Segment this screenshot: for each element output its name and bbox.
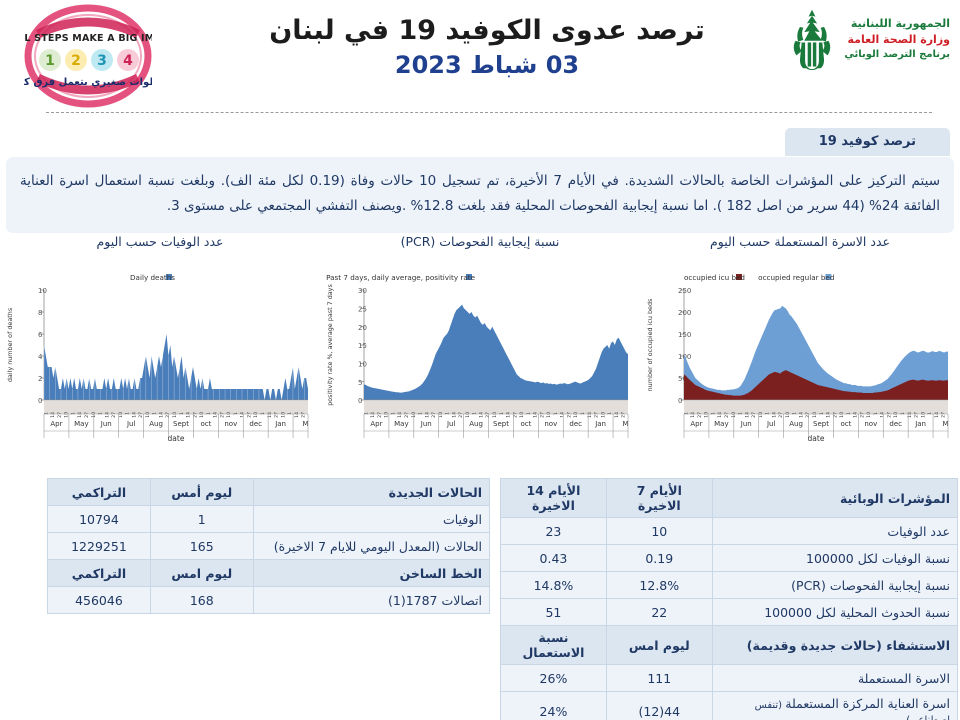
svg-text:27: 27 (697, 412, 703, 418)
svg-text:20: 20 (358, 324, 367, 332)
svg-text:10: 10 (573, 412, 579, 418)
indicators-row-value-0: 22 (606, 599, 712, 626)
svg-text:1: 1 (553, 412, 559, 415)
x-tick-label: Aug (149, 420, 163, 428)
x-tick-label: Jun (100, 420, 112, 428)
indicators-row-value-0: 10 (606, 518, 712, 545)
indicators-row-label-sub: (تنفس اصطناعي) (755, 700, 950, 720)
svg-text:27: 27 (859, 412, 865, 418)
indicators-row-value-1: 14.8% (501, 572, 607, 599)
svg-text:10: 10 (145, 412, 151, 418)
chart-daily-deaths: 0246810114271011427101142710114271011427… (0, 262, 320, 452)
svg-text:14: 14 (506, 412, 512, 418)
svg-text:14: 14 (880, 412, 886, 418)
cases-row-value-0: 1 (150, 506, 253, 533)
x-tick-label: dec (249, 420, 262, 428)
svg-text:1: 1 (927, 412, 933, 415)
x-tick-label: nov (544, 420, 557, 428)
x-tick-label: May (74, 420, 88, 428)
svg-text:10: 10 (465, 412, 471, 418)
svg-text:27: 27 (539, 412, 545, 418)
x-tick-label: Aug (789, 420, 803, 428)
cases-row-value-0: 165 (150, 533, 253, 560)
x-tick-label: Sept (173, 420, 189, 428)
cedar-tree-hand-icon (786, 8, 838, 70)
svg-text:30: 30 (358, 287, 367, 295)
x-tick-label: Apr (370, 420, 382, 428)
svg-text:1: 1 (445, 412, 451, 415)
charts-row: 0246810114271011427101142710114271011427… (0, 262, 960, 452)
x-tick-label: Jan (274, 420, 286, 428)
svg-text:1: 1 (792, 412, 798, 415)
svg-text:1: 1 (580, 412, 586, 415)
ministry-text: الجمهورية اللبنانية وزارة الصحة العامة ب… (844, 16, 950, 62)
svg-text:1: 1 (287, 412, 293, 415)
cases-header-cell-1: ليوم امس (150, 560, 253, 587)
page-date: 03 شباط 2023 (252, 50, 722, 81)
svg-text:0: 0 (38, 397, 42, 405)
ministry-line-1: الجمهورية اللبنانية (844, 16, 950, 32)
svg-text:2: 2 (71, 53, 81, 69)
x-tick-label: dec (889, 420, 902, 428)
svg-text:10: 10 (358, 361, 367, 369)
svg-text:occupied icu bed: occupied icu bed (684, 273, 745, 282)
svg-text:14: 14 (690, 412, 696, 418)
tables-row: المؤشرات الوبائيةالأيام 7 الاخيرةالأيام … (0, 476, 960, 716)
table-row: الحالات (المعدل اليومي للايام 7 الاخيرة)… (48, 533, 490, 560)
page-title: ترصد عدوى الكوفيد 19 في لبنان (252, 14, 722, 48)
indicators-row-label: عدد الوفيات (712, 518, 957, 545)
svg-text:1: 1 (233, 412, 239, 415)
svg-text:10: 10 (280, 412, 286, 418)
svg-text:14: 14 (717, 412, 723, 418)
table-row: نسبة إيجابية الفحوصات (PCR)12.8%14.8% (501, 572, 958, 599)
indicators-header-cell-0: الاستشفاء (حالات جديدة وقديمة) (712, 626, 957, 665)
cases-header-cell-0: الخط الساخن (253, 560, 489, 587)
svg-text:10: 10 (600, 412, 606, 418)
svg-text:1: 1 (206, 412, 212, 415)
svg-text:0: 0 (678, 397, 682, 405)
svg-text:1: 1 (526, 412, 532, 415)
cases-row-value-1: 1229251 (48, 533, 151, 560)
svg-text:14: 14 (798, 412, 804, 418)
chart-svg-0: 0246810114271011427101142710114271011427… (0, 262, 320, 452)
cases-row-value-1: 456046 (48, 587, 151, 614)
svg-text:27: 27 (246, 412, 252, 418)
indicators-header-cell-0: المؤشرات الوبائية (712, 479, 957, 518)
cases-header-row: الحالات الجديدةليوم أمسالتراكمي (48, 479, 490, 506)
x-tick-label: oct (200, 420, 211, 428)
x-tick-label: Jul (446, 420, 456, 428)
svg-text:14: 14 (370, 412, 376, 418)
cases-row-label: اتصالات 1787(1) (253, 587, 489, 614)
indicators-row-label: نسبة الحدوث المحلية لكل 100000 (712, 599, 957, 626)
svg-text:27: 27 (458, 412, 464, 418)
x-tick-label: Apr (690, 420, 702, 428)
x-tick-label: Jan (594, 420, 606, 428)
svg-text:10: 10 (785, 412, 791, 418)
svg-text:27: 27 (84, 412, 90, 418)
chart-svg-1: 0510152025301142710114271011427101142710… (320, 262, 640, 452)
svg-text:5: 5 (358, 379, 362, 387)
ministry-line-2: وزارة الصحة العامة (844, 32, 950, 48)
cases-header-row: الخط الساخنليوم امسالتراكمي (48, 560, 490, 587)
svg-text:14: 14 (131, 412, 137, 418)
chart-legend: occupied icu bedoccupied regular bed (684, 273, 834, 282)
cases-header-cell-2: التراكمي (48, 479, 151, 506)
svg-text:27: 27 (431, 412, 437, 418)
svg-text:10: 10 (866, 412, 872, 418)
x-tick-label: oct (520, 420, 531, 428)
svg-text:14: 14 (907, 412, 913, 418)
x-tick-label: dec (569, 420, 582, 428)
svg-text:200: 200 (678, 309, 691, 317)
svg-text:14: 14 (424, 412, 430, 418)
svg-text:1: 1 (900, 412, 906, 415)
indicators-header-row: الاستشفاء (حالات جديدة وقديمة)ليوم امسنس… (501, 626, 958, 665)
campaign-stamp-icon: SMALL STEPS MAKE A BIG IMPACT 1 2 3 4 خط… (24, 4, 152, 108)
svg-text:2: 2 (38, 375, 42, 383)
table-row: اتصالات 1787(1)168456046 (48, 587, 490, 614)
table-row: عدد الوفيات1023 (501, 518, 958, 545)
cases-row-label: الحالات (المعدل اليومي للايام 7 الاخيرة) (253, 533, 489, 560)
svg-text:14: 14 (186, 412, 192, 418)
chart-title-deaths: عدد الوفيات حسب اليوم (0, 234, 320, 249)
svg-text:1: 1 (765, 412, 771, 415)
svg-text:10: 10 (839, 412, 845, 418)
svg-text:14: 14 (934, 412, 940, 418)
page-header: الجمهورية اللبنانية وزارة الصحة العامة ب… (0, 0, 960, 112)
svg-text:1: 1 (499, 412, 505, 415)
indicators-row-value-0: 44(12) (606, 692, 712, 720)
indicators-row-value-1: 0.43 (501, 545, 607, 572)
indicators-header-cell-1: ليوم امس (606, 626, 712, 665)
svg-text:10: 10 (38, 287, 47, 295)
x-tick-label: Jun (740, 420, 752, 428)
y-axis-label: daily number of deaths (6, 307, 14, 382)
table-row: الوفيات110794 (48, 506, 490, 533)
indicators-header-cell-2: الأيام 14 الاخيرة (501, 479, 607, 518)
svg-text:1: 1 (607, 412, 613, 415)
x-tick-label: May (394, 420, 408, 428)
svg-text:10: 10 (519, 412, 525, 418)
y-axis-label: positivity rate %, average past 7 days (326, 284, 334, 406)
svg-text:14: 14 (213, 412, 219, 418)
ministry-line-3: برنامج الترصد الوبائي (844, 48, 950, 63)
indicators-row-label: اسرة العناية المركزة المستعملة (تنفس اصط… (712, 692, 957, 720)
svg-text:14: 14 (587, 412, 593, 418)
svg-text:14: 14 (478, 412, 484, 418)
svg-text:Past 7 days, daily average, po: Past 7 days, daily average, positivity r… (326, 273, 475, 282)
svg-text:1: 1 (98, 412, 104, 415)
svg-text:14: 14 (560, 412, 566, 418)
svg-text:1: 1 (472, 412, 478, 415)
svg-text:14: 14 (771, 412, 777, 418)
table-row: الاسرة المستعملة11126% (501, 665, 958, 692)
x-tick-label: M (302, 420, 308, 428)
svg-text:10: 10 (199, 412, 205, 418)
svg-text:14: 14 (744, 412, 750, 418)
svg-text:10: 10 (492, 412, 498, 418)
x-tick-label: Jun (420, 420, 432, 428)
x-tick-label: Sept (493, 420, 509, 428)
x-tick-label: oct (840, 420, 851, 428)
cases-header-cell-0: الحالات الجديدة (253, 479, 489, 506)
x-tick-label: Aug (469, 420, 483, 428)
svg-text:150: 150 (678, 331, 691, 339)
svg-text:10: 10 (253, 412, 259, 418)
svg-text:6: 6 (38, 331, 43, 339)
chart-title-beds: عدد الاسرة المستعملة حسب اليوم (640, 234, 960, 249)
svg-text:14: 14 (267, 412, 273, 418)
series-area-positivity-rate (364, 305, 628, 400)
svg-text:14: 14 (853, 412, 859, 418)
x-tick-label: Jul (126, 420, 136, 428)
svg-text:4: 4 (123, 53, 133, 69)
svg-text:1: 1 (125, 412, 131, 415)
x-tick-label: M (942, 420, 948, 428)
svg-text:27: 27 (301, 412, 307, 418)
cases-row-label: الوفيات (253, 506, 489, 533)
chart-pcr-positivity: 0510152025301142710114271011427101142710… (320, 262, 640, 452)
indicators-row-value-1: 51 (501, 599, 607, 626)
svg-text:14: 14 (397, 412, 403, 418)
chart-legend: Past 7 days, daily average, positivity r… (326, 273, 475, 282)
indicators-row-value-0: 12.8% (606, 572, 712, 599)
indicators-header-cell-2: نسبة الاستعمال (501, 626, 607, 665)
svg-text:27: 27 (778, 412, 784, 418)
svg-text:27: 27 (111, 412, 117, 418)
svg-text:1: 1 (873, 412, 879, 415)
x-tick-label: Jul (766, 420, 776, 428)
new-cases-hotline-table: الحالات الجديدةليوم أمسالتراكميالوفيات11… (47, 478, 490, 614)
svg-text:27: 27 (751, 412, 757, 418)
indicators-row-value-1: 24% (501, 692, 607, 720)
svg-text:14: 14 (294, 412, 300, 418)
indicators-row-value-0: 111 (606, 665, 712, 692)
svg-text:1: 1 (819, 412, 825, 415)
svg-text:1: 1 (418, 412, 424, 415)
x-tick-label: May (714, 420, 728, 428)
x-tick-label: nov (224, 420, 237, 428)
cases-row-value-1: 10794 (48, 506, 151, 533)
svg-text:27: 27 (274, 412, 280, 418)
svg-text:27: 27 (941, 412, 947, 418)
svg-text:14: 14 (614, 412, 620, 418)
indicators-row-value-1: 26% (501, 665, 607, 692)
svg-text:14: 14 (50, 412, 56, 418)
svg-text:27: 27 (219, 412, 225, 418)
epidemiological-indicators-table: المؤشرات الوبائيةالأيام 7 الاخيرةالأيام … (500, 478, 958, 720)
cases-header-cell-2: التراكمي (48, 560, 151, 587)
svg-text:1: 1 (738, 412, 744, 415)
cases-header-cell-1: ليوم أمس (150, 479, 253, 506)
svg-text:250: 250 (678, 287, 691, 295)
svg-text:4: 4 (38, 353, 43, 361)
svg-text:1: 1 (70, 412, 76, 415)
svg-text:10: 10 (812, 412, 818, 418)
summary-panel: سيتم التركيز على المؤشرات الخاصة بالحالا… (6, 157, 954, 233)
y-axis-label: number of occupied icu beds (646, 298, 654, 391)
ministry-logo: الجمهورية اللبنانية وزارة الصحة العامة ب… (786, 8, 950, 70)
svg-text:3: 3 (97, 53, 107, 69)
chart-legend: Daily deaths (130, 273, 175, 282)
indicators-row-label: نسبة الوفيات لكل 100000 (712, 545, 957, 572)
svg-text:27: 27 (594, 412, 600, 418)
svg-text:15: 15 (358, 342, 367, 350)
svg-text:occupied regular bed: occupied regular bed (758, 273, 834, 282)
svg-text:27: 27 (377, 412, 383, 418)
svg-text:10: 10 (546, 412, 552, 418)
svg-text:27: 27 (404, 412, 410, 418)
svg-text:10: 10 (226, 412, 232, 418)
x-tick-label: M (622, 420, 628, 428)
chart-title-pcr: نسبة إيجابية الفحوصات (PCR) (320, 234, 640, 249)
svg-text:27: 27 (138, 412, 144, 418)
dashboard-page: الجمهورية اللبنانية وزارة الصحة العامة ب… (0, 0, 960, 720)
indicators-row-value-0: 0.19 (606, 545, 712, 572)
svg-text:1: 1 (710, 412, 716, 415)
table-row: نسبة الوفيات لكل 1000000.190.43 (501, 545, 958, 572)
svg-text:27: 27 (566, 412, 572, 418)
chart-occupied-beds: 0501001502002501142710114271011427101142… (640, 262, 960, 452)
svg-text:14: 14 (158, 412, 164, 418)
svg-text:10: 10 (172, 412, 178, 418)
svg-text:14: 14 (533, 412, 539, 418)
svg-text:27: 27 (621, 412, 627, 418)
table-row: اسرة العناية المركزة المستعملة (تنفس اصط… (501, 692, 958, 720)
table-row: نسبة الحدوث المحلية لكل 1000002251 (501, 599, 958, 626)
svg-text:14: 14 (77, 412, 83, 418)
status-badge: ترصد كوفيد 19 (785, 128, 950, 156)
svg-text:0: 0 (358, 397, 362, 405)
x-tick-label: Jan (914, 420, 926, 428)
svg-text:10: 10 (920, 412, 926, 418)
x-axis-label: date (168, 434, 185, 443)
svg-text:25: 25 (358, 306, 367, 314)
svg-text:14: 14 (104, 412, 110, 418)
svg-text:14: 14 (240, 412, 246, 418)
svg-text:1: 1 (390, 412, 396, 415)
x-tick-label: nov (864, 420, 877, 428)
page-title-block: ترصد عدوى الكوفيد 19 في لبنان 03 شباط 20… (252, 14, 722, 81)
chart-svg-2: 0501001502002501142710114271011427101142… (640, 262, 960, 452)
indicators-header-row: المؤشرات الوبائيةالأيام 7 الاخيرةالأيام … (501, 479, 958, 518)
svg-text:1: 1 (152, 412, 158, 415)
indicators-header-cell-1: الأيام 7 الاخيرة (606, 479, 712, 518)
svg-text:14: 14 (451, 412, 457, 418)
svg-text:1: 1 (45, 53, 55, 69)
svg-text:27: 27 (724, 412, 730, 418)
svg-text:10: 10 (893, 412, 899, 418)
indicators-row-label: نسبة إيجابية الفحوصات (PCR) (712, 572, 957, 599)
x-tick-label: Apr (50, 420, 62, 428)
x-tick-label: Sept (813, 420, 829, 428)
svg-text:14: 14 (826, 412, 832, 418)
svg-text:27: 27 (914, 412, 920, 418)
svg-text:1: 1 (260, 412, 266, 415)
svg-text:1: 1 (179, 412, 185, 415)
svg-text:27: 27 (886, 412, 892, 418)
header-divider (46, 112, 932, 113)
indicators-row-value-1: 23 (501, 518, 607, 545)
svg-text:8: 8 (38, 309, 42, 317)
svg-text:1: 1 (846, 412, 852, 415)
indicators-row-label: الاسرة المستعملة (712, 665, 957, 692)
svg-text:خطوات صغيري بتعمل فرق كبير: خطوات صغيري بتعمل فرق كبير (24, 77, 152, 88)
chart-titles-row: عدد الوفيات حسب اليوم نسبة إيجابية الفحو… (0, 234, 960, 249)
svg-text:SMALL STEPS MAKE A BIG IMPACT: SMALL STEPS MAKE A BIG IMPACT (24, 33, 152, 44)
svg-text:27: 27 (57, 412, 63, 418)
summary-text: سيتم التركيز على المؤشرات الخاصة بالحالا… (20, 169, 940, 219)
x-axis-label: date (808, 434, 825, 443)
cases-row-value-0: 168 (150, 587, 253, 614)
svg-text:Daily deaths: Daily deaths (130, 273, 175, 282)
